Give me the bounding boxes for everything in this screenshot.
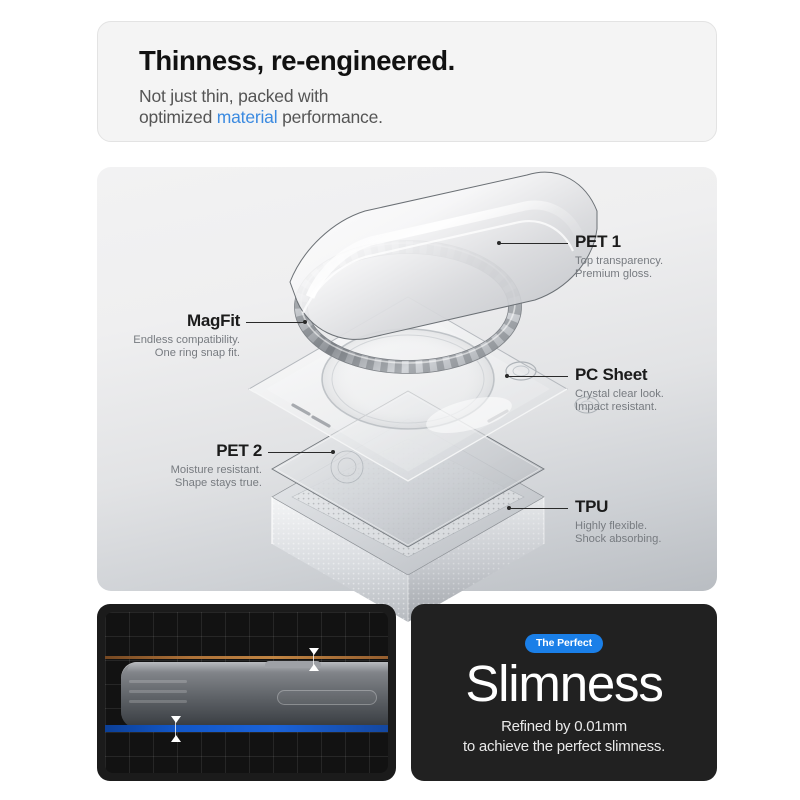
cross-section-viewport — [105, 612, 388, 773]
measure-marker-bottom-down — [171, 716, 181, 723]
slimness-title: Slimness — [411, 655, 717, 713]
callout-desc-tpu: Highly flexible. Shock absorbing. — [575, 520, 661, 547]
thickness-line-bottom — [105, 725, 388, 732]
callout-desc-pet1-line1: Top transparency. — [575, 255, 663, 267]
page-subtitle: Not just thin, packed with optimized mat… — [139, 86, 383, 128]
callout-desc-pet1: Top transparency. Premium gloss. — [575, 255, 663, 282]
leader-line-pet1 — [500, 243, 568, 244]
status-badge: The Perfect — [525, 634, 603, 653]
slimness-card: The Perfect Slimness Refined by 0.01mm t… — [411, 604, 717, 781]
callout-title-pet1: PET 1 — [575, 232, 663, 252]
callout-desc-pet1-line2: Premium gloss. — [575, 268, 652, 280]
phone-profile-button — [277, 690, 377, 705]
callout-title-pc-sheet: PC Sheet — [575, 365, 664, 385]
leader-line-tpu — [510, 508, 568, 509]
leader-dot-pet2 — [331, 450, 335, 454]
phone-profile-ridge-2 — [129, 690, 187, 693]
cross-section-panel — [97, 604, 396, 781]
phone-profile-ridge-1 — [129, 680, 187, 683]
callout-pet2: PET 2 Moisture resistant. Shape stays tr… — [82, 441, 262, 491]
callout-tpu: TPU Highly flexible. Shock absorbing. — [575, 497, 661, 547]
slimness-subtitle: Refined by 0.01mm to achieve the perfect… — [411, 717, 717, 756]
callout-desc-pet2: Moisture resistant. Shape stays true. — [82, 464, 262, 491]
measure-marker-bottom-up — [171, 735, 181, 742]
leader-dot-tpu — [507, 506, 511, 510]
slimness-subtitle-line2: to achieve the perfect slimness. — [463, 738, 665, 755]
callout-desc-magfit-line1: Endless compatibility. — [133, 334, 240, 346]
callout-desc-pc-sheet-line1: Crystal clear look. — [575, 388, 664, 400]
subtitle-suffix: performance. — [277, 107, 382, 127]
leader-line-magfit — [246, 322, 306, 323]
callout-desc-pc-sheet: Crystal clear look. Impact resistant. — [575, 388, 664, 415]
callout-title-magfit: MagFit — [60, 311, 240, 331]
callout-title-pet2: PET 2 — [82, 441, 262, 461]
leader-dot-pc-sheet — [505, 374, 509, 378]
callout-desc-magfit: Endless compatibility. One ring snap fit… — [60, 334, 240, 361]
measure-marker-top-down — [309, 648, 319, 655]
thickness-line-top — [105, 656, 388, 659]
phone-profile-top-edge — [127, 662, 388, 672]
measure-marker-top-up — [309, 664, 319, 671]
leader-line-pc-sheet — [508, 376, 568, 377]
leader-line-pet2 — [268, 452, 334, 453]
callout-desc-tpu-line2: Shock absorbing. — [575, 533, 661, 545]
callout-pet1: PET 1 Top transparency. Premium gloss. — [575, 232, 663, 282]
subtitle-line-1: Not just thin, packed with — [139, 86, 328, 106]
subtitle-highlight: material — [217, 107, 278, 127]
callout-desc-pc-sheet-line2: Impact resistant. — [575, 401, 657, 413]
callout-title-tpu: TPU — [575, 497, 661, 517]
callout-magfit: MagFit Endless compatibility. One ring s… — [60, 311, 240, 361]
slimness-subtitle-line1: Refined by 0.01mm — [501, 718, 627, 735]
header-card: Thinness, re-engineered. Not just thin, … — [97, 21, 717, 142]
page-title: Thinness, re-engineered. — [139, 45, 455, 77]
callout-desc-tpu-line1: Highly flexible. — [575, 520, 647, 532]
callout-desc-pet2-line1: Moisture resistant. — [171, 464, 262, 476]
callout-pc-sheet: PC Sheet Crystal clear look. Impact resi… — [575, 365, 664, 415]
subtitle-prefix: optimized — [139, 107, 217, 127]
callout-desc-magfit-line2: One ring snap fit. — [155, 347, 240, 359]
leader-dot-pet1 — [497, 241, 501, 245]
leader-dot-magfit — [303, 320, 307, 324]
phone-profile-ridge-3 — [129, 700, 187, 703]
callout-desc-pet2-line2: Shape stays true. — [175, 477, 262, 489]
